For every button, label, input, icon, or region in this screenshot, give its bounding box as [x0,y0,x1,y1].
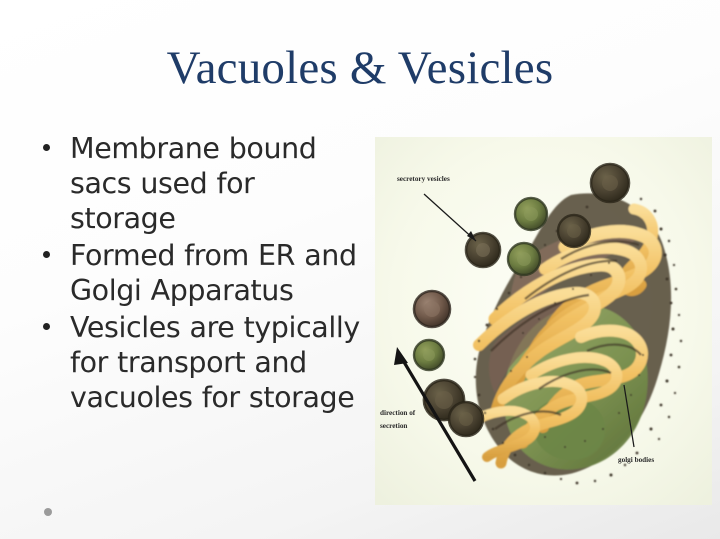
list-item: Formed from ER and Golgi Apparatus [34,238,364,308]
bullet-marker-icon [43,144,50,151]
vesicle [449,402,483,436]
vesicle [414,291,450,327]
vesicle [508,243,540,275]
list-item: Membrane bound sacs used for storage [34,131,364,236]
golgi-diagram-illustration: secretory vesicles direction of secretio… [375,137,712,505]
direction-of-secretion-label-line2: secretion [380,422,407,430]
golgi-bodies-label: golgi bodies [618,456,654,464]
vesicle [515,198,547,230]
secretory-vesicles-label: secretory vesicles [397,175,450,183]
empty-bullet-marker-icon [44,508,52,516]
list-item-label: Membrane bound sacs used for storage [70,132,316,235]
page-title: Vacuoles & Vesicles [0,44,720,94]
bullet-list: Membrane bound sacs used for storage For… [34,131,364,417]
list-item-label: Vesicles are typically for transport and… [70,311,360,414]
vesicle [414,340,444,370]
list-item-label: Formed from ER and Golgi Apparatus [70,239,357,307]
list-item: Vesicles are typically for transport and… [34,310,364,415]
direction-of-secretion-label-line1: direction of [380,409,416,417]
golgi-apparatus-figure: secretory vesicles direction of secretio… [375,137,712,505]
vesicle [591,164,629,202]
bullet-marker-icon [43,251,50,258]
slide-canvas: Vacuoles & Vesicles Membrane bound sacs … [0,0,720,539]
bullet-marker-icon [43,323,50,330]
vesicle [558,215,590,247]
